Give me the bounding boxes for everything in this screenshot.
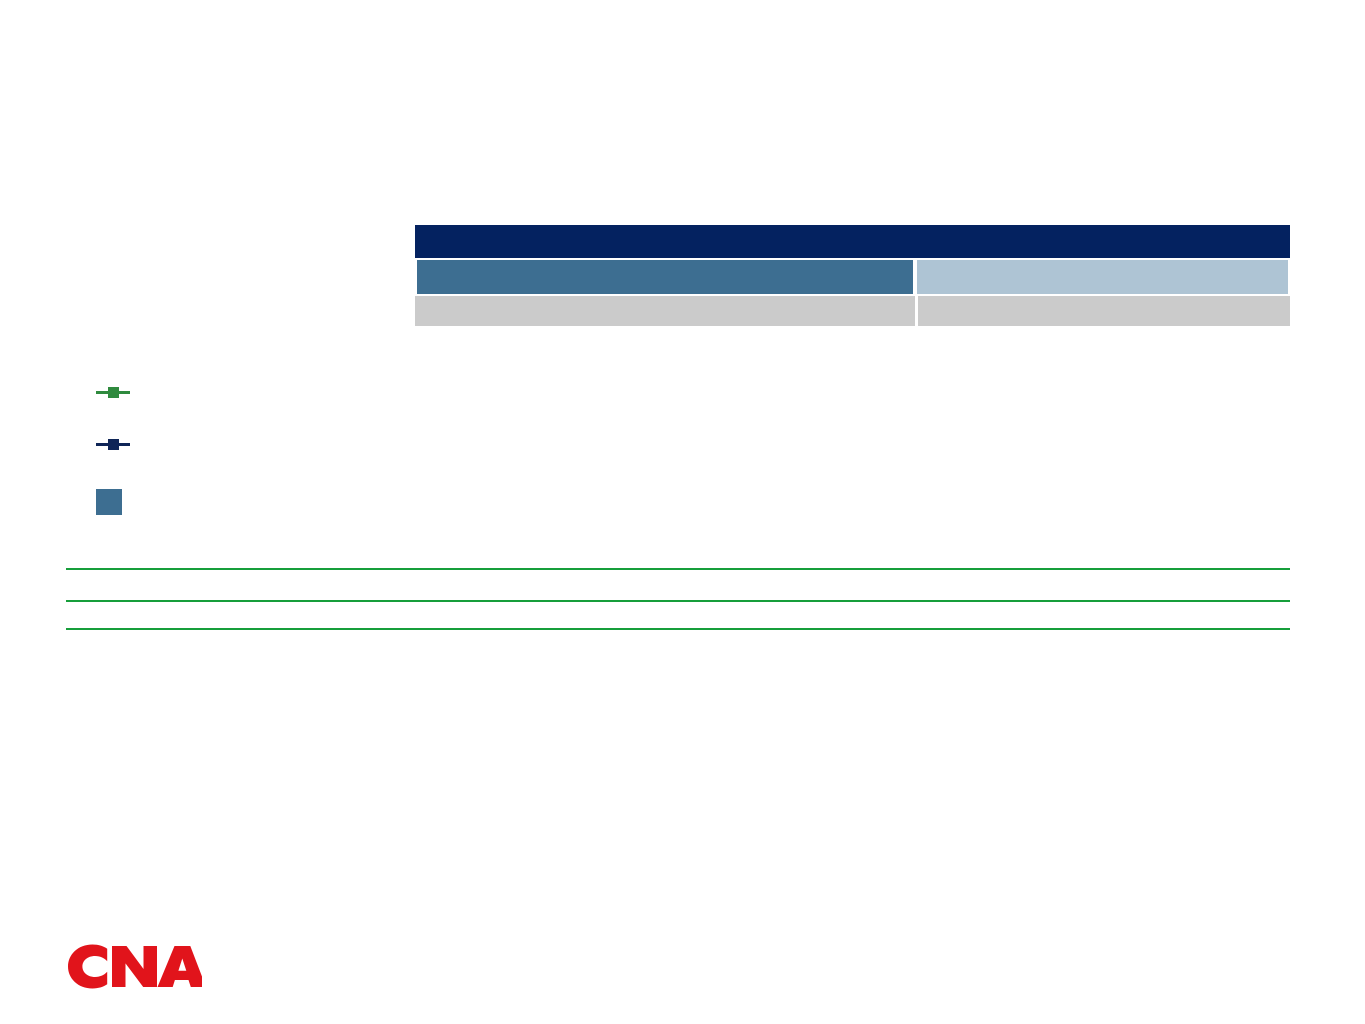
quarter-cell-7 (1165, 296, 1290, 326)
cell-gwp-4 (790, 572, 915, 600)
retention-line-svg (415, 332, 1290, 410)
renewal-premium-line-svg (415, 455, 1290, 565)
quarter-cell-1 (415, 296, 540, 326)
cell-gwp-6 (1040, 572, 1165, 600)
cell-newbiz-5 (915, 601, 1040, 629)
chart-header-years (415, 260, 1290, 294)
retention-line-plot (415, 332, 1290, 410)
cell-newbiz-2 (540, 601, 665, 629)
cell-gwp-7 (1165, 572, 1290, 600)
quarter-cell-6 (1040, 296, 1165, 326)
cna-logo (62, 938, 202, 994)
legend-item-retention (96, 385, 142, 399)
cell-gwp-2 (540, 572, 665, 600)
quarter-cell-5 (915, 296, 1040, 326)
legend-item-rate (96, 489, 136, 515)
renewal-premium-and-rate-plot (415, 455, 1290, 565)
cell-newbiz-4 (790, 601, 915, 629)
table-row-new-business (66, 601, 1290, 629)
rule-above-gwp (66, 568, 1290, 570)
quarter-cell-2 (540, 296, 665, 326)
rule-below-newbusiness (66, 628, 1290, 630)
year-cell-2025 (915, 260, 1290, 294)
cell-gwp-5 (915, 572, 1040, 600)
line-marker-icon-retention (96, 385, 130, 399)
year-cell-2024 (415, 260, 915, 294)
quarter-cell-4 (790, 296, 915, 326)
row-cells-new-business (415, 601, 1290, 629)
square-swatch-icon-rate (96, 489, 122, 515)
legend-item-renewal-premium-change (96, 437, 142, 451)
row-cells-gwp (415, 572, 1290, 600)
cell-gwp-3 (665, 572, 790, 600)
chart-header-quarters (415, 296, 1290, 326)
chart-header-title (415, 225, 1290, 258)
cell-newbiz-6 (1040, 601, 1165, 629)
cell-newbiz-3 (665, 601, 790, 629)
line-marker-icon-renewal-premium-change (96, 437, 130, 451)
table-row-gwp (66, 572, 1290, 600)
cell-newbiz-1 (415, 601, 540, 629)
slide-canvas (0, 0, 1365, 1024)
cell-gwp-1 (415, 572, 540, 600)
quarter-cell-3 (665, 296, 790, 326)
cell-newbiz-7 (1165, 601, 1290, 629)
